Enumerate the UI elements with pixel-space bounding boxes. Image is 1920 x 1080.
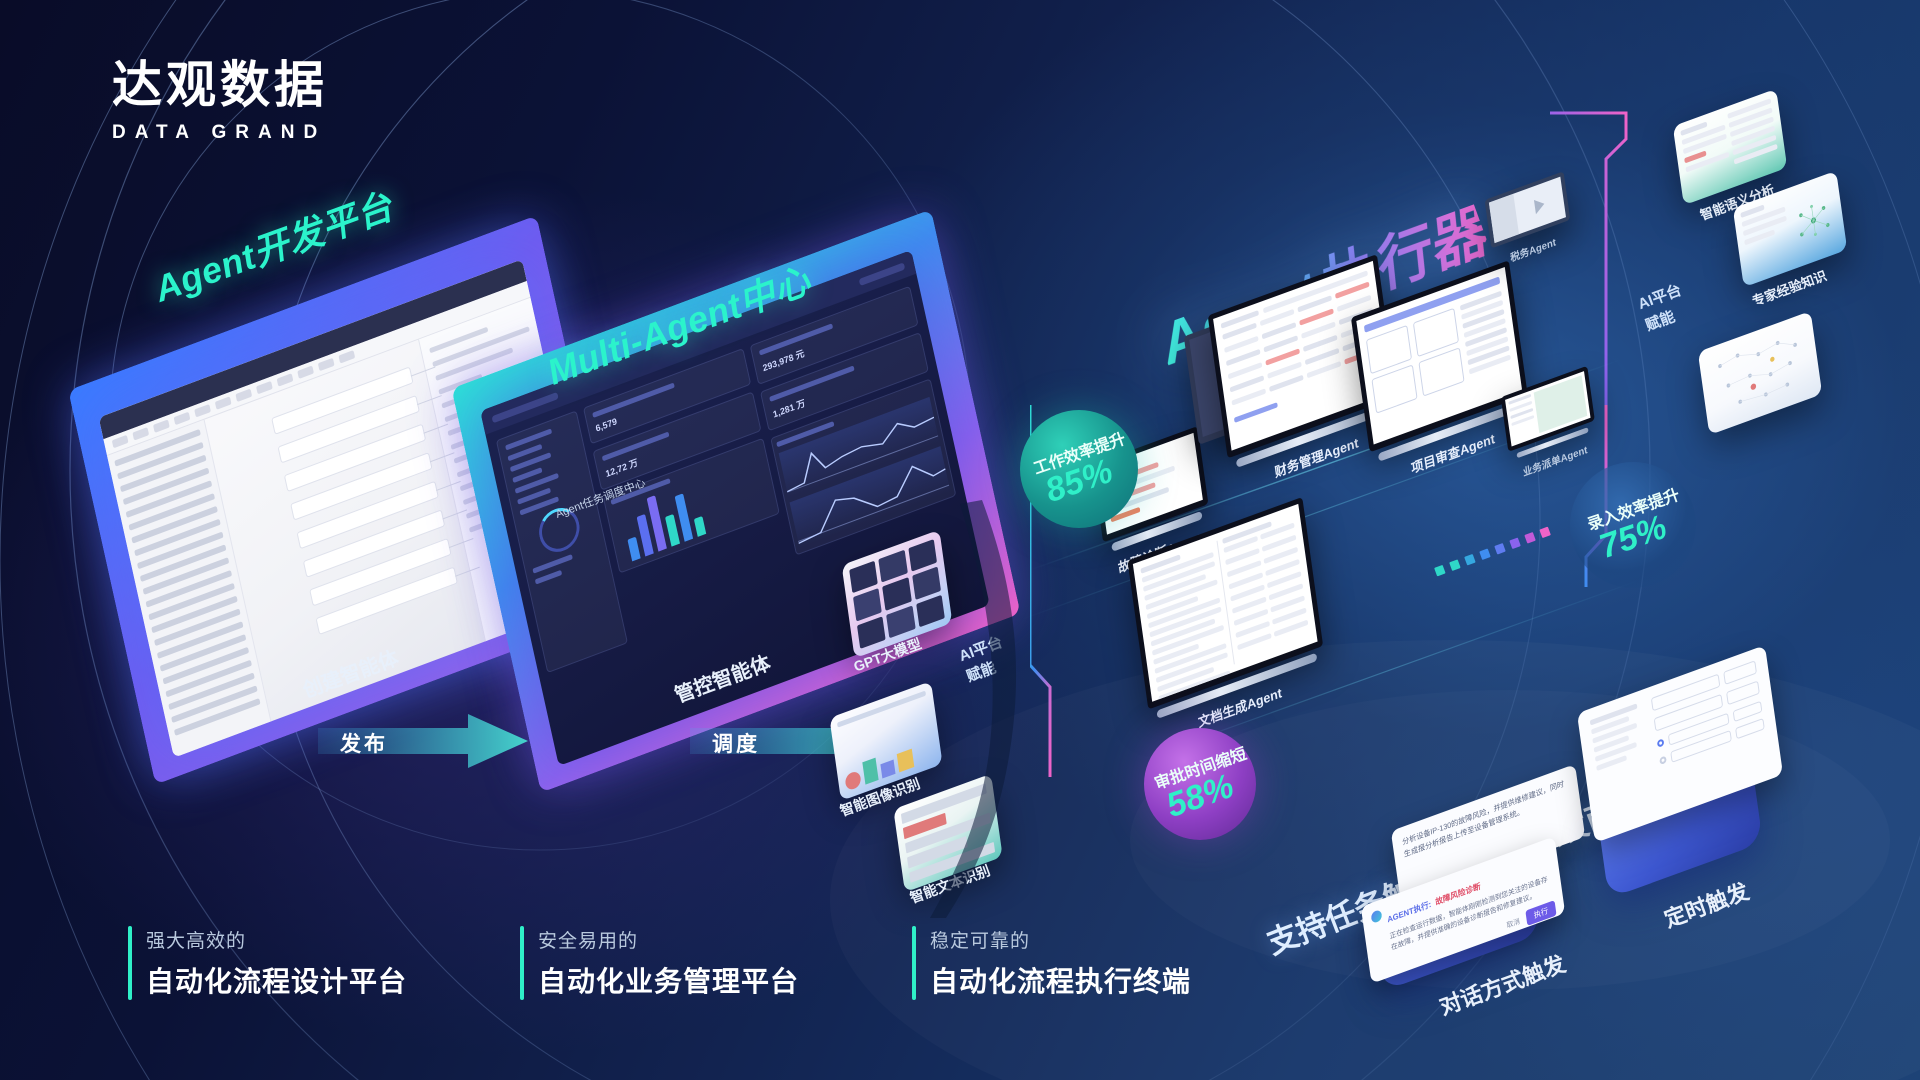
chat-secondary-button[interactable]: 取消 — [1506, 916, 1521, 931]
caption-item-1: 安全易用的 自动化业务管理平台 — [520, 926, 799, 1000]
publish-arrow: 发布 — [318, 714, 528, 768]
brand-name-cn: 达观数据 — [112, 60, 328, 110]
caption-item-0: 强大高效的 自动化流程设计平台 — [128, 926, 407, 1000]
stat-badge-approval: 审批时间缩短 58% — [1144, 728, 1256, 840]
timed-trigger-label: 定时触发 — [1659, 874, 1753, 934]
caption-accent-bar — [128, 926, 132, 1000]
agent-device-tax: 税务Agent — [1485, 171, 1574, 271]
caption-large-1: 自动化业务管理平台 — [538, 960, 799, 1000]
agent-avatar-icon — [1371, 909, 1383, 924]
publish-arrow-label: 发布 — [340, 728, 388, 758]
caption-small-1: 安全易用的 — [538, 926, 799, 953]
caption-accent-bar-1 — [520, 926, 524, 1000]
caption-small-0: 强大高效的 — [146, 926, 407, 953]
caption-small-2: 稳定可靠的 — [930, 926, 1191, 953]
stat-badge-efficiency: 工作效率提升 85% — [1020, 410, 1138, 528]
brand-logo: 达观数据 DATA GRAND — [112, 60, 328, 144]
center-ribbon — [930, 500, 1110, 920]
chat-execute-button[interactable]: 执行 — [1525, 900, 1556, 926]
caption-large-2: 自动化流程执行终端 — [930, 960, 1191, 1000]
caption-large-0: 自动化流程设计平台 — [146, 960, 407, 1000]
radio-icon-2[interactable] — [1659, 756, 1667, 765]
stat-badge-entry: 录入效率提升 75% — [1570, 462, 1696, 588]
caption-item-2: 稳定可靠的 自动化流程执行终端 — [912, 926, 1191, 1000]
schedule-arrow-label: 调度 — [712, 728, 760, 758]
infographic-canvas: 达观数据 DATA GRAND Agent开发平台 创建智能 — [0, 0, 1920, 1080]
brand-name-en: DATA GRAND — [112, 122, 328, 144]
bottom-captions: 强大高效的 自动化流程设计平台 安全易用的 自动化业务管理平台 稳定可靠的 自动… — [128, 926, 1191, 1000]
radio-icon[interactable] — [1657, 738, 1665, 747]
dotted-connector — [1434, 527, 1551, 577]
caption-accent-bar-2 — [912, 926, 916, 1000]
knowledge-graph-card — [1698, 311, 1822, 435]
